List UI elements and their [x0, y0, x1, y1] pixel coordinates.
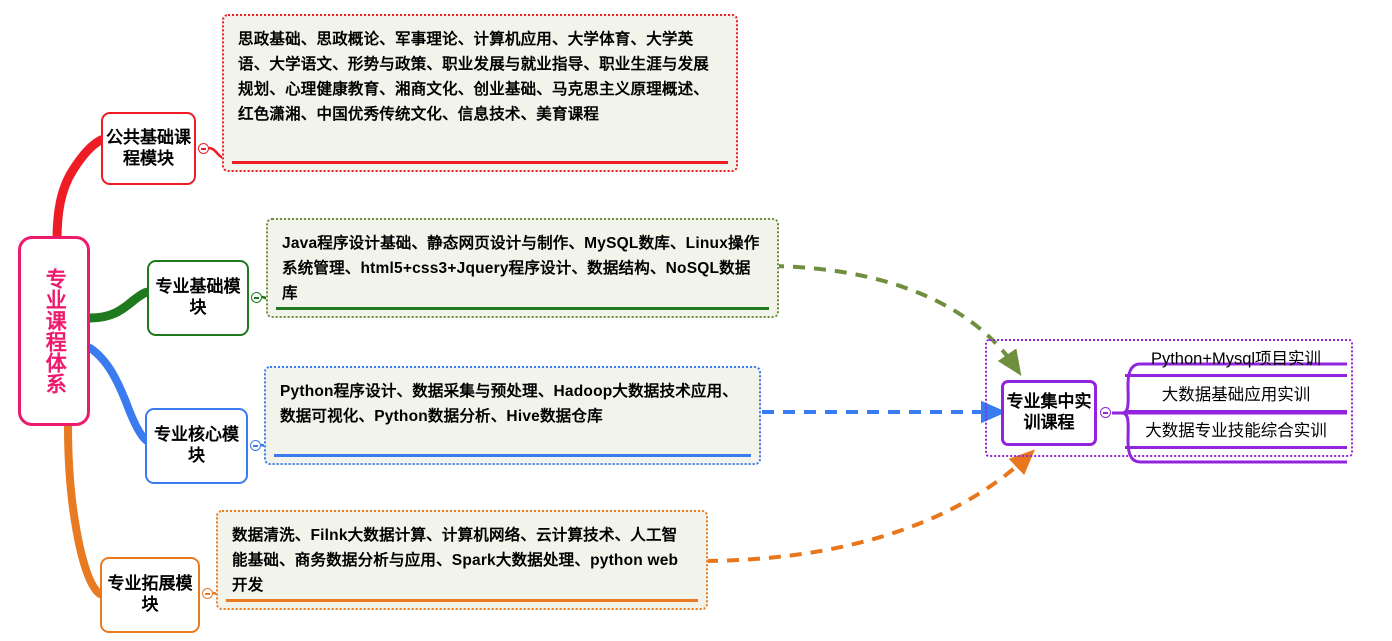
collapse-toggle-training-icon[interactable] — [1100, 407, 1111, 418]
course-panel-extend[interactable]: 数据清洗、Filnk大数据计算、计算机网络、云计算技术、人工智能基础、商务数据分… — [216, 510, 708, 610]
panel-underline-public — [232, 161, 728, 164]
training-item-1[interactable]: 大数据基础应用实训 — [1125, 381, 1347, 413]
branch-node-extend[interactable]: 专业拓展模块 — [100, 557, 200, 633]
panel-underline-extend — [226, 599, 698, 602]
training-item-2[interactable]: 大数据专业技能综合实训 — [1125, 417, 1347, 449]
collapse-toggle-core-icon[interactable] — [250, 440, 261, 451]
course-panel-basic[interactable]: Java程序设计基础、静态网页设计与制作、MySQL数库、Linux操作系统管理… — [266, 218, 779, 318]
panel-underline-core — [274, 454, 751, 457]
course-list-public: 思政基础、思政概论、军事理论、计算机应用、大学体育、大学英语、大学语文、形势与政… — [238, 31, 709, 123]
panel-underline-basic — [276, 307, 769, 310]
mindmap-canvas: 专业课程体系 公共基础课程模块 专业基础模块 专业核心模块 专业拓展模块 思政基… — [0, 0, 1392, 641]
course-panel-core[interactable]: Python程序设计、数据采集与预处理、Hadoop大数据技术应用、数据可视化、… — [264, 366, 761, 465]
course-list-basic: Java程序设计基础、静态网页设计与制作、MySQL数库、Linux操作系统管理… — [282, 235, 759, 302]
branch-node-basic[interactable]: 专业基础模块 — [147, 260, 249, 336]
collapse-toggle-basic-icon[interactable] — [251, 292, 262, 303]
root-node[interactable]: 专业课程体系 — [18, 236, 90, 426]
branch-node-public[interactable]: 公共基础课程模块 — [101, 112, 196, 185]
arrow-basic-to-training — [772, 266, 1016, 368]
course-list-extend: 数据清洗、Filnk大数据计算、计算机网络、云计算技术、人工智能基础、商务数据分… — [232, 527, 678, 594]
arrow-extend-to-training — [706, 456, 1028, 561]
branch-curve-extend — [68, 426, 100, 594]
branch-curve-public — [57, 140, 101, 240]
branch-curve-basic — [90, 292, 149, 318]
training-item-0[interactable]: Python+Mysql项目实训 — [1125, 345, 1347, 377]
collapse-toggle-public-icon[interactable] — [198, 143, 209, 154]
course-panel-public[interactable]: 思政基础、思政概论、军事理论、计算机应用、大学体育、大学英语、大学语文、形势与政… — [222, 14, 738, 172]
collapse-toggle-extend-icon[interactable] — [202, 588, 213, 599]
branch-curve-core — [90, 348, 147, 441]
course-list-core: Python程序设计、数据采集与预处理、Hadoop大数据技术应用、数据可视化、… — [280, 383, 738, 425]
branch-node-core[interactable]: 专业核心模块 — [145, 408, 248, 484]
training-node[interactable]: 专业集中实训课程 — [1001, 380, 1097, 446]
